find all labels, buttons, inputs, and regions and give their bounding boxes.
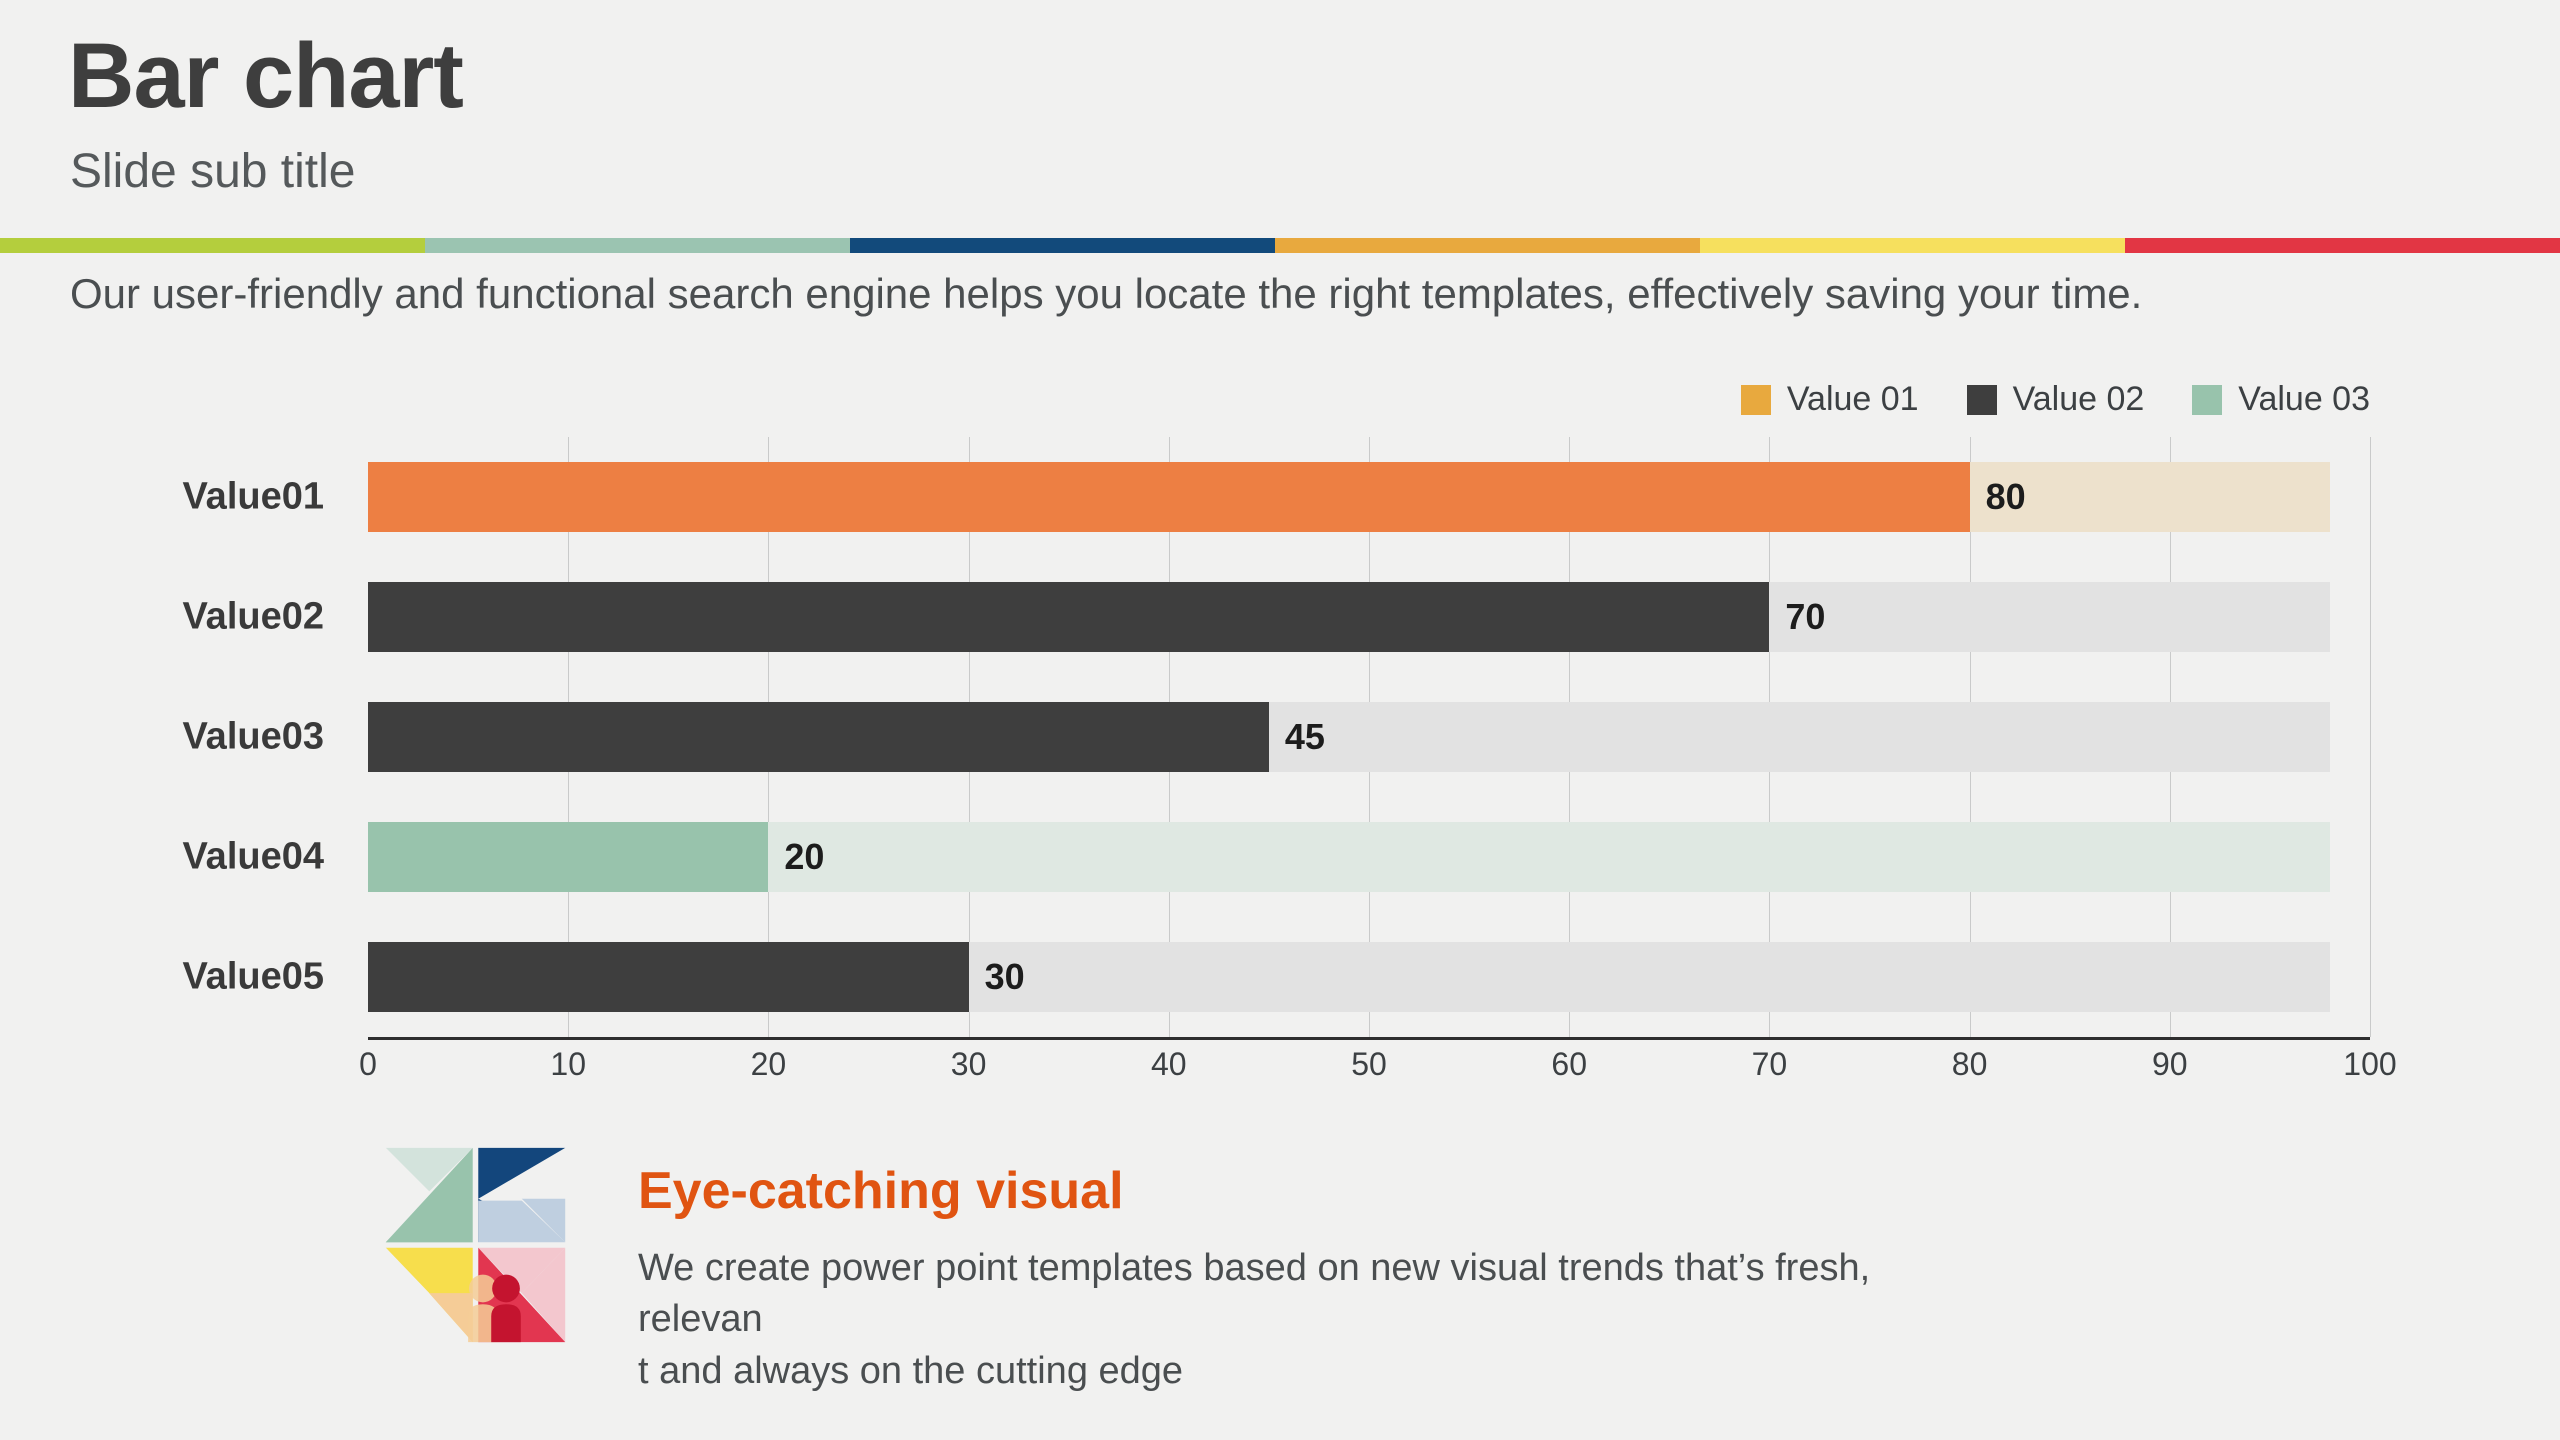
- pinwheel-logo: [383, 1145, 568, 1345]
- category-label-4: Value04: [182, 836, 324, 879]
- legend-item-3[interactable]: Value 03: [2192, 380, 2370, 419]
- bar-row-2[interactable]: 70: [368, 582, 2370, 652]
- chart-legend: Value 01Value 02Value 03: [1741, 380, 2370, 419]
- page-title: Bar chart: [68, 30, 463, 122]
- x-tick-30: 30: [951, 1046, 987, 1083]
- strip-segment-green: [0, 238, 425, 253]
- x-tick-50: 50: [1351, 1046, 1387, 1083]
- bar-row-5[interactable]: 30: [368, 942, 2370, 1012]
- feature-body-line-1: We create power point templates based on…: [638, 1243, 1958, 1346]
- bar-value-label: 80: [1986, 476, 2026, 518]
- x-axis-tick-labels: 0102030405060708090100: [368, 1046, 2370, 1096]
- color-strip-divider: [0, 238, 2560, 253]
- bar-fill[interactable]: [368, 942, 969, 1012]
- category-label-2: Value02: [182, 596, 324, 639]
- x-tick-90: 90: [2152, 1046, 2188, 1083]
- category-label-3: Value03: [182, 716, 324, 759]
- strip-segment-navy: [850, 238, 1275, 253]
- x-tick-20: 20: [751, 1046, 787, 1083]
- x-axis-line: [368, 1037, 2370, 1040]
- category-axis-labels: Value01Value02Value03Value04Value05: [0, 437, 348, 1037]
- feature-body-line-2: t and always on the cutting edge: [638, 1346, 1958, 1397]
- legend-label: Value 03: [2238, 380, 2370, 419]
- strip-segment-yellow: [1700, 238, 2125, 253]
- bar-fill[interactable]: [368, 582, 1769, 652]
- legend-swatch-icon: [1741, 385, 1771, 415]
- x-tick-70: 70: [1752, 1046, 1788, 1083]
- x-tick-10: 10: [550, 1046, 586, 1083]
- bar-chart: 8070452030: [368, 437, 2370, 1037]
- bar-fill[interactable]: [368, 822, 768, 892]
- legend-label: Value 01: [1787, 380, 1919, 419]
- bar-row-1[interactable]: 80: [368, 462, 2370, 532]
- feature-heading: Eye-catching visual: [638, 1165, 1958, 1217]
- category-label-1: Value01: [182, 476, 324, 519]
- legend-item-2[interactable]: Value 02: [1967, 380, 2145, 419]
- legend-label: Value 02: [2013, 380, 2145, 419]
- x-tick-40: 40: [1151, 1046, 1187, 1083]
- bar-fill[interactable]: [368, 462, 1970, 532]
- bar-row-3[interactable]: 45: [368, 702, 2370, 772]
- gridline-100: [2370, 437, 2371, 1037]
- feature-block: Eye-catching visual We create power poin…: [383, 1145, 1958, 1397]
- legend-item-1[interactable]: Value 01: [1741, 380, 1919, 419]
- chart-bar-rows: 8070452030: [368, 437, 2370, 1037]
- bar-value-label: 20: [784, 836, 824, 878]
- intro-paragraph: Our user-friendly and functional search …: [70, 268, 2370, 321]
- bar-value-label: 30: [985, 956, 1025, 998]
- page-subtitle: Slide sub title: [70, 148, 356, 196]
- x-tick-100: 100: [2343, 1046, 2396, 1083]
- bar-value-label: 45: [1285, 716, 1325, 758]
- bar-row-4[interactable]: 20: [368, 822, 2370, 892]
- category-label-5: Value05: [182, 956, 324, 999]
- strip-segment-red: [2125, 238, 2560, 253]
- bar-value-label: 70: [1785, 596, 1825, 638]
- x-tick-80: 80: [1952, 1046, 1988, 1083]
- strip-segment-sage: [425, 238, 850, 253]
- bar-fill[interactable]: [368, 702, 1269, 772]
- x-tick-0: 0: [359, 1046, 377, 1083]
- legend-swatch-icon: [1967, 385, 1997, 415]
- legend-swatch-icon: [2192, 385, 2222, 415]
- strip-segment-orange: [1275, 238, 1700, 253]
- x-tick-60: 60: [1551, 1046, 1587, 1083]
- feature-body: We create power point templates based on…: [638, 1243, 1958, 1397]
